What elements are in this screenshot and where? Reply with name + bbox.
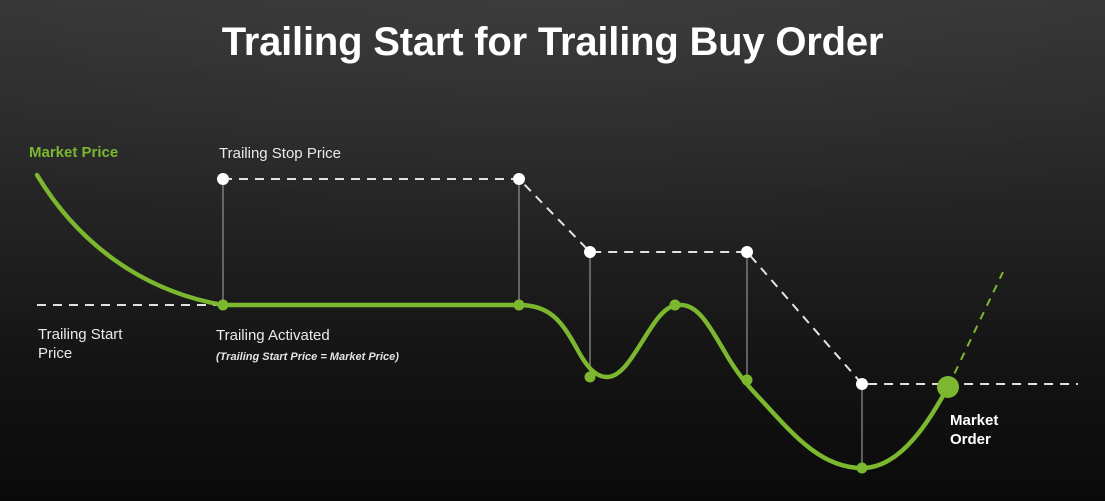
stop-to-price-connectors [223, 179, 862, 468]
price-marker-activation [218, 300, 229, 311]
price-marker-4 [670, 300, 681, 311]
label-market-price: Market Price [29, 143, 118, 163]
market-price-curve [37, 175, 948, 468]
stop-marker-1 [217, 173, 229, 185]
page-title: Trailing Start for Trailing Buy Order [0, 20, 1105, 65]
stop-marker-5 [856, 378, 868, 390]
label-trailing-stop-price: Trailing Stop Price [219, 144, 341, 164]
label-trailing-activated-note: (Trailing Start Price = Market Price) [216, 350, 399, 365]
diagram-canvas: Trailing Start for Trailing Buy Order [0, 0, 1105, 501]
label-trailing-start-price: Trailing Start Price [38, 325, 122, 363]
price-marker-3 [585, 372, 596, 383]
price-marker-6 [857, 463, 868, 474]
stop-marker-4 [741, 246, 753, 258]
market-price-projection-line [948, 272, 1003, 387]
stop-marker-3 [584, 246, 596, 258]
price-marker-2 [514, 300, 525, 311]
stop-marker-2 [513, 173, 525, 185]
market-order-marker [937, 376, 959, 398]
trailing-order-chart [0, 0, 1105, 501]
price-marker-5 [742, 375, 753, 386]
label-market-order: Market Order [950, 411, 998, 449]
label-trailing-activated: Trailing Activated [216, 326, 330, 346]
